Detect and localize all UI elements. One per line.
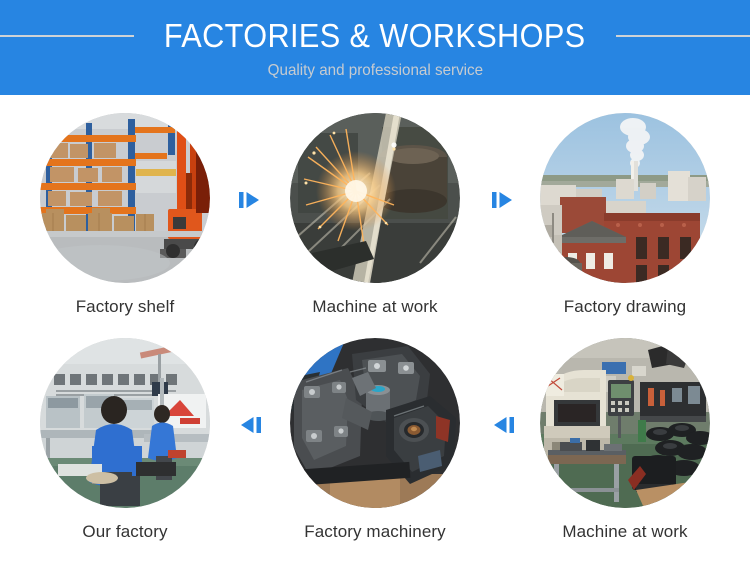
play-forward-right-icon[interactable]	[237, 187, 263, 213]
banner-rule-right	[616, 35, 750, 37]
page-title: FACTORIES & WORKSHOPS	[164, 17, 586, 55]
banner-title-row: FACTORIES & WORKSHOPS	[0, 17, 750, 55]
gallery-item-caption: Factory drawing	[564, 297, 686, 317]
banner-rule-left	[0, 35, 134, 37]
cnc-machine-shop-photo	[540, 338, 710, 508]
gallery-item-machine-at-work-2[interactable]: Machine at work	[500, 320, 750, 560]
page-subtitle: Quality and professional service	[267, 62, 482, 80]
assembly-line-workers-photo	[40, 338, 210, 508]
gallery-item-caption: Factory shelf	[76, 297, 175, 317]
warehouse-racking-forklift-photo	[40, 113, 210, 283]
gallery-item-caption: Machine at work	[562, 522, 687, 542]
welding-sparks-machine-photo	[290, 113, 460, 283]
factory-exterior-smokestack-photo	[540, 113, 710, 283]
gallery-item-factory-shelf[interactable]: Factory shelf	[0, 95, 250, 320]
gallery-item-factory-machinery[interactable]: Factory machinery	[250, 320, 500, 560]
factories-workshops-page: FACTORIES & WORKSHOPS Quality and profes…	[0, 0, 750, 575]
banner-content: FACTORIES & WORKSHOPS Quality and profes…	[0, 0, 750, 95]
gallery-item-machine-at-work-1[interactable]: Machine at work	[250, 95, 500, 320]
gallery-item-factory-drawing[interactable]: Factory drawing	[500, 95, 750, 320]
gallery-row-1: Factory shelf	[0, 95, 750, 320]
gallery-row-2: Our factory	[0, 320, 750, 560]
gallery-grid: Factory shelf	[0, 95, 750, 560]
gallery-item-caption: Factory machinery	[304, 522, 446, 542]
play-back-left-icon[interactable]	[490, 412, 516, 438]
page-header-banner: FACTORIES & WORKSHOPS Quality and profes…	[0, 0, 750, 95]
play-forward-right-icon[interactable]	[490, 187, 516, 213]
gallery-item-caption: Our factory	[82, 522, 167, 542]
play-back-left-icon[interactable]	[237, 412, 263, 438]
cast-metal-machinery-closeup-photo	[290, 338, 460, 508]
gallery-item-caption: Machine at work	[312, 297, 437, 317]
gallery-item-our-factory[interactable]: Our factory	[0, 320, 250, 560]
